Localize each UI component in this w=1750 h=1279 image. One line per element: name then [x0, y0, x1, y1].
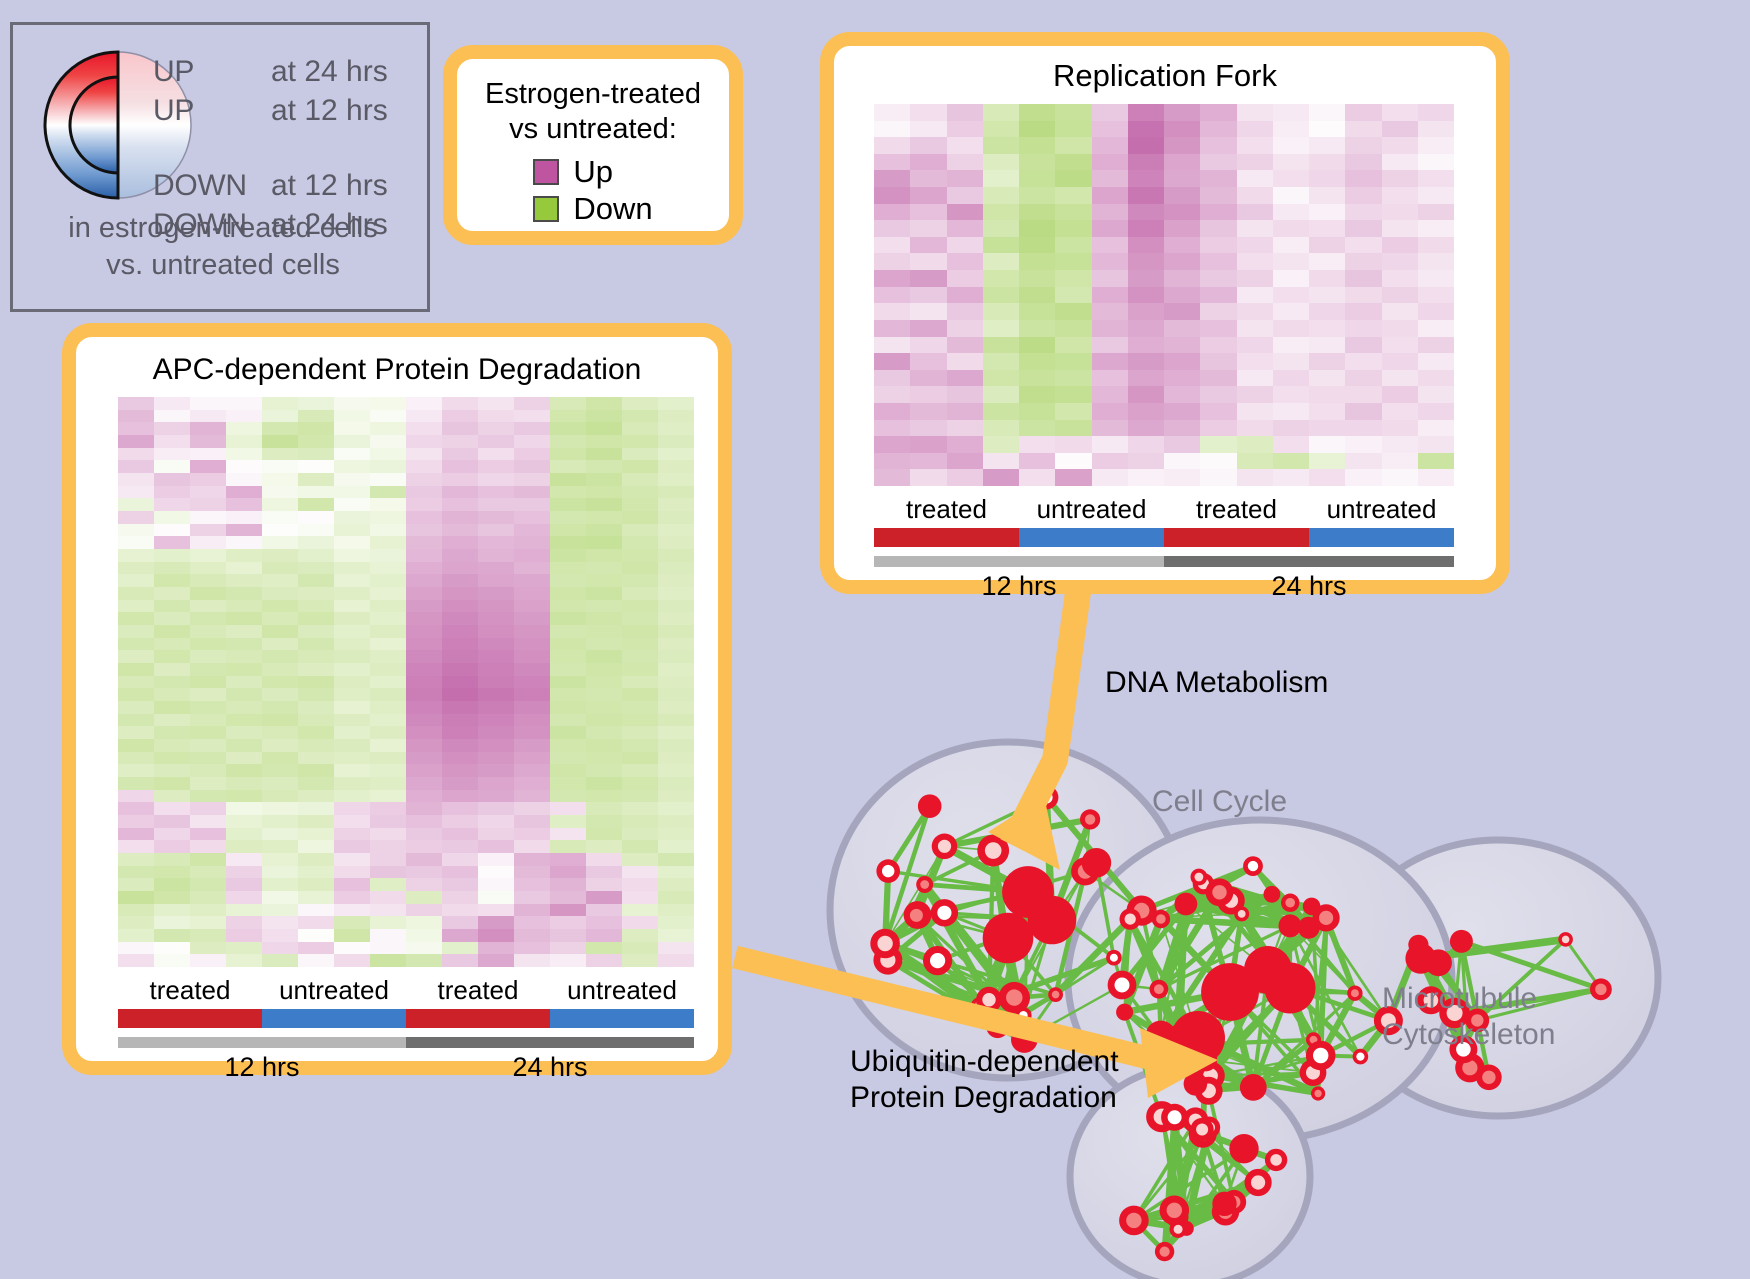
- heatmap-cell: [370, 448, 406, 461]
- heatmap-cell: [658, 840, 694, 853]
- heatmap-cell: [514, 422, 550, 435]
- heatmap-cell: [190, 878, 226, 891]
- heatmap-cell: [226, 612, 262, 625]
- network-node[interactable]: [1212, 1192, 1236, 1216]
- heatmap-cell: [1200, 137, 1236, 154]
- network-node[interactable]: [1450, 930, 1473, 953]
- heatmap-cell: [406, 562, 442, 575]
- heatmap-cell: [1092, 270, 1128, 287]
- heatmap-cell: [1418, 353, 1454, 370]
- heatmap-cell: [983, 220, 1019, 237]
- heatmap-cell: [1164, 237, 1200, 254]
- network-node[interactable]: [1240, 1074, 1267, 1101]
- heatmap-cell: [1309, 270, 1345, 287]
- heatmap-cell: [1382, 386, 1418, 403]
- heatmap-cell: [658, 587, 694, 600]
- network-node[interactable]: [1116, 1004, 1133, 1021]
- network-node[interactable]: [1264, 886, 1281, 903]
- heatmap-cell: [298, 435, 334, 448]
- heatmap-cell: [622, 460, 658, 473]
- heatmap-cell: [1345, 104, 1381, 121]
- heatmap-cell: [298, 688, 334, 701]
- heatmap-cell: [118, 549, 154, 562]
- heatmap-cell: [118, 777, 154, 790]
- heatmap-cell: [478, 676, 514, 689]
- heatmap-cell: [658, 574, 694, 587]
- heatmap-cell: [1273, 270, 1309, 287]
- heatmap-cell: [478, 625, 514, 638]
- heatmap-cell: [262, 422, 298, 435]
- heatmap-cell: [154, 726, 190, 739]
- heatmap-cell: [262, 435, 298, 448]
- heatmap-cell: [334, 486, 370, 499]
- heatmap-cell: [658, 891, 694, 904]
- heatmap-cell: [478, 840, 514, 853]
- heatmap-cell: [370, 473, 406, 486]
- heatmap-cell: [226, 676, 262, 689]
- heatmap-cell: [226, 638, 262, 651]
- heatmap-cell: [1273, 154, 1309, 171]
- heatmap-cell: [622, 840, 658, 853]
- heatmap-cell: [622, 625, 658, 638]
- heatmap-cell: [550, 422, 586, 435]
- heatmap-cell: [983, 469, 1019, 486]
- heatmap-cell: [406, 650, 442, 663]
- heatmap-cell: [406, 891, 442, 904]
- network-node[interactable]: [1082, 848, 1112, 878]
- heatmap-cell: [658, 726, 694, 739]
- heatmap-cell: [190, 625, 226, 638]
- heatmap-cell: [658, 524, 694, 537]
- heatmap-cell: [1273, 121, 1309, 138]
- heatmap-cell: [622, 790, 658, 803]
- heatmap-cell: [298, 701, 334, 714]
- heatmap-cell: [442, 891, 478, 904]
- heatmap-cell: [442, 954, 478, 967]
- heatmap-cell: [334, 752, 370, 765]
- heatmap-cell: [118, 587, 154, 600]
- heatmap-cell: [406, 524, 442, 537]
- heatmap-cell: [154, 536, 190, 549]
- heatmap-cell: [1128, 453, 1164, 470]
- heatmap-cell: [622, 752, 658, 765]
- heatmap-cell: [334, 815, 370, 828]
- heatmap-cell: [226, 486, 262, 499]
- heatmap-cell: [226, 498, 262, 511]
- heatmap-cell: [190, 891, 226, 904]
- heatmap-cell: [1382, 237, 1418, 254]
- heatmap-cell: [586, 587, 622, 600]
- heatmap-cell: [658, 815, 694, 828]
- heatmap-cell: [983, 170, 1019, 187]
- heatmap-cell: [622, 536, 658, 549]
- heatmap-cell: [1200, 386, 1236, 403]
- heatmap-cell: [190, 524, 226, 537]
- heatmap-cell: [118, 688, 154, 701]
- heatmap-cell: [334, 549, 370, 562]
- heatmap-cell: [550, 764, 586, 777]
- heatmap-cell: [262, 954, 298, 967]
- heatmap-cell: [118, 511, 154, 524]
- treated-bar-12hr: [118, 1009, 262, 1028]
- heatmap-cell: [154, 853, 190, 866]
- heatmap-cell: [947, 187, 983, 204]
- heatmap-cell: [874, 436, 910, 453]
- heatmap-cell: [262, 752, 298, 765]
- heatmap-cell: [406, 929, 442, 942]
- heatmap-cell: [514, 891, 550, 904]
- heatmap-cell: [1200, 237, 1236, 254]
- key-time: at 12 hrs: [271, 94, 388, 128]
- heatmap-cell: [550, 676, 586, 689]
- heatmap-cell: [298, 638, 334, 651]
- heatmap-cell: [406, 587, 442, 600]
- timepoint-bar-24hr: [1164, 556, 1454, 567]
- heatmap-cell: [1418, 453, 1454, 470]
- heatmap-cell: [1345, 320, 1381, 337]
- heatmap-cell: [1092, 469, 1128, 486]
- heatmap-cell: [1092, 453, 1128, 470]
- heatmap-cell: [1128, 253, 1164, 270]
- heatmap-cell: [1345, 353, 1381, 370]
- heatmap-cell: [1092, 220, 1128, 237]
- heatmap-cell: [226, 916, 262, 929]
- heatmap-cell: [874, 154, 910, 171]
- heatmap-cell: [1200, 121, 1236, 138]
- heatmap-cell: [1418, 420, 1454, 437]
- heatmap-cell: [406, 574, 442, 587]
- colour-key-box: UP at 24 hrs UP at 12 hrs DOWN at 12 hrs…: [10, 22, 430, 312]
- heatmap-cell: [1237, 237, 1273, 254]
- heatmap-cell: [983, 237, 1019, 254]
- heatmap-cell: [226, 473, 262, 486]
- heatmap-cell: [514, 777, 550, 790]
- heatmap-cell: [226, 460, 262, 473]
- heatmap-cell: [1200, 287, 1236, 304]
- heatmap-cell: [1092, 403, 1128, 420]
- heatmap-cell: [586, 916, 622, 929]
- heatmap-cell: [1237, 436, 1273, 453]
- heatmap-cell: [406, 777, 442, 790]
- heatmap-cell: [442, 574, 478, 587]
- network-node[interactable]: [1425, 949, 1452, 976]
- heatmap-cell: [983, 287, 1019, 304]
- heatmap-cell: [910, 353, 946, 370]
- heatmap-cell: [1128, 270, 1164, 287]
- heatmap-cell: [478, 688, 514, 701]
- heatmap-cell: [1055, 386, 1091, 403]
- heatmap-cell: [1237, 154, 1273, 171]
- heatmap-cell: [983, 320, 1019, 337]
- network-node[interactable]: [1229, 1134, 1258, 1163]
- heatmap-cell: [658, 397, 694, 410]
- heatmap-cell: [550, 853, 586, 866]
- heatmap-cell: [1309, 453, 1345, 470]
- heatmap-cell: [1092, 237, 1128, 254]
- heatmap-cell: [262, 638, 298, 651]
- heatmap-cell: [550, 536, 586, 549]
- network-node[interactable]: [1146, 1021, 1176, 1051]
- heatmap-cell: [226, 866, 262, 879]
- network-node-core: [1212, 885, 1226, 899]
- heatmap-cell: [1055, 220, 1091, 237]
- heatmap-cell: [622, 422, 658, 435]
- heatmap-cell: [983, 353, 1019, 370]
- heatmap-cell: [1418, 104, 1454, 121]
- network-node[interactable]: [918, 794, 942, 818]
- heatmap-cell: [190, 866, 226, 879]
- heatmap-cell: [478, 511, 514, 524]
- heatmap-cell: [586, 853, 622, 866]
- heatmap-cell: [1382, 220, 1418, 237]
- heatmap-cell: [1418, 187, 1454, 204]
- heatmap-cell: [154, 790, 190, 803]
- heatmap-cell: [406, 460, 442, 473]
- heatmap-cell: [406, 435, 442, 448]
- network-node[interactable]: [1028, 896, 1077, 945]
- heatmap-cell: [370, 701, 406, 714]
- heatmap-cell: [622, 498, 658, 511]
- heatmap-cell: [874, 403, 910, 420]
- heatmap-cell: [874, 420, 910, 437]
- heatmap-cell: [334, 473, 370, 486]
- heatmap-cell: [334, 600, 370, 613]
- heatmap-cell: [118, 764, 154, 777]
- network-node[interactable]: [1303, 898, 1321, 916]
- heatmap-cell: [406, 511, 442, 524]
- heatmap-cell: [947, 420, 983, 437]
- heatmap-cell: [658, 942, 694, 955]
- heatmap-cell: [370, 929, 406, 942]
- heatmap-cell: [658, 612, 694, 625]
- heatmap-cell: [514, 435, 550, 448]
- heatmap-cell: [550, 891, 586, 904]
- heatmap-cell: [478, 650, 514, 663]
- heatmap-cell: [1382, 303, 1418, 320]
- heatmap-cell: [298, 536, 334, 549]
- heatmap-cell: [586, 460, 622, 473]
- heatmap-cell: [1200, 420, 1236, 437]
- heatmap-cell: [298, 448, 334, 461]
- heatmap-cell: [1164, 253, 1200, 270]
- heatmap-cell: [1237, 121, 1273, 138]
- heatmap-cell: [1128, 403, 1164, 420]
- heatmap-cell: [983, 370, 1019, 387]
- label-cell-cycle: Cell Cycle: [1152, 784, 1287, 820]
- heatmap-cell: [910, 469, 946, 486]
- heatmap-cell: [1273, 104, 1309, 121]
- heatmap-cell: [1164, 420, 1200, 437]
- heatmap-cell: [1237, 303, 1273, 320]
- heatmap-cell: [262, 891, 298, 904]
- heatmap-cell: [334, 448, 370, 461]
- heatmap-cell: [514, 498, 550, 511]
- key-row-down-12: DOWN at 12 hrs: [153, 169, 428, 208]
- heatmap-cell: [658, 473, 694, 486]
- heatmap-cell: [514, 929, 550, 942]
- heatmap-cell: [550, 612, 586, 625]
- heatmap-cell: [190, 486, 226, 499]
- heatmap-cell: [1418, 403, 1454, 420]
- heatmap-cell: [298, 866, 334, 879]
- heatmap-cell: [1128, 237, 1164, 254]
- heatmap-cell: [1237, 420, 1273, 437]
- treatment-labels: treated untreated treated untreated: [874, 494, 1454, 525]
- heatmap-cell: [154, 638, 190, 651]
- heatmap-cell: [370, 676, 406, 689]
- treated-bar-24hr: [406, 1009, 550, 1028]
- heatmap-cell: [190, 498, 226, 511]
- heatmap-cell: [1200, 370, 1236, 387]
- heatmap-cell: [478, 587, 514, 600]
- heatmap-cell: [1345, 121, 1381, 138]
- network-node-core: [1314, 1090, 1321, 1097]
- heatmap-cell: [154, 460, 190, 473]
- heatmap-cell: [550, 701, 586, 714]
- heatmap-cell: [1382, 320, 1418, 337]
- heatmap-cell: [550, 562, 586, 575]
- heatmap-cell: [947, 303, 983, 320]
- network-node-core: [1196, 1124, 1208, 1136]
- heatmap-cell: [1418, 237, 1454, 254]
- heatmap-cell: [658, 486, 694, 499]
- heatmap-cell: [947, 170, 983, 187]
- heatmap-cell: [370, 752, 406, 765]
- heatmap-cell: [1273, 337, 1309, 354]
- treatment-label: treated: [874, 494, 1019, 525]
- heatmap-cell: [226, 853, 262, 866]
- heatmap-cell: [983, 386, 1019, 403]
- heatmap-cell: [910, 436, 946, 453]
- heatmap-cell: [406, 625, 442, 638]
- heatmap-cell: [947, 337, 983, 354]
- network-node[interactable]: [1265, 963, 1316, 1014]
- heatmap-cell: [262, 612, 298, 625]
- network-node-core: [1040, 791, 1052, 803]
- heatmap-cell: [514, 549, 550, 562]
- network-node[interactable]: [1279, 914, 1302, 937]
- heatmap-cell: [370, 828, 406, 841]
- heatmap-cell: [118, 802, 154, 815]
- heatmap-cell: [514, 752, 550, 765]
- heatmap-cell: [622, 866, 658, 879]
- heatmap-cell: [226, 739, 262, 752]
- heatmap-cell: [190, 954, 226, 967]
- heatmap-cell: [442, 802, 478, 815]
- heatmap-cell: [947, 253, 983, 270]
- heatmap-cell: [1273, 253, 1309, 270]
- heatmap-cell: [1273, 137, 1309, 154]
- treatment-label: untreated: [1019, 494, 1164, 525]
- label-microtubule-cytoskeleton: Microtubule Cytoskeleton: [1382, 981, 1555, 1053]
- treatment-label: treated: [1164, 494, 1309, 525]
- network-node[interactable]: [1175, 893, 1198, 916]
- heatmap-cell: [406, 663, 442, 676]
- heatmap-cell: [1237, 104, 1273, 121]
- heatmap-cell: [586, 929, 622, 942]
- network-node[interactable]: [1184, 1072, 1208, 1096]
- heatmap-cell: [478, 828, 514, 841]
- heatmap-cell: [983, 453, 1019, 470]
- heatmap-cell: [478, 764, 514, 777]
- heatmap-cell: [334, 397, 370, 410]
- heatmap-cell: [586, 625, 622, 638]
- heatmap-cell: [154, 954, 190, 967]
- heatmap-cell: [658, 676, 694, 689]
- network-node-core: [1115, 978, 1130, 993]
- heatmap-cell: [1200, 204, 1236, 221]
- heatmap-cell: [550, 752, 586, 765]
- heatmap-cell: [1309, 303, 1345, 320]
- legend-label-down: Down: [573, 191, 652, 227]
- heatmap-cell: [1382, 154, 1418, 171]
- network-node-core: [1313, 1048, 1328, 1063]
- heatmap-cell: [1382, 253, 1418, 270]
- heatmap-cell: [550, 625, 586, 638]
- heatmap-cell: [154, 473, 190, 486]
- heatmap-cell: [406, 549, 442, 562]
- heatmap-cell: [947, 353, 983, 370]
- heatmap-cell: [298, 790, 334, 803]
- heatmap-cell: [190, 511, 226, 524]
- heatmap-cell: [1309, 253, 1345, 270]
- heatmap-cell: [658, 929, 694, 942]
- heatmap-cell: [298, 739, 334, 752]
- heatmap-cell: [1237, 220, 1273, 237]
- heatmap-cell: [226, 790, 262, 803]
- heatmap-cell: [514, 448, 550, 461]
- heatmap-cell: [1200, 104, 1236, 121]
- heatmap-cell: [262, 650, 298, 663]
- heatmap-cell: [154, 511, 190, 524]
- heatmap-cell: [334, 435, 370, 448]
- heatmap-cell: [658, 916, 694, 929]
- heatmap-cell: [118, 815, 154, 828]
- network-node-core: [1174, 1225, 1183, 1234]
- heatmap-cell: [1418, 170, 1454, 187]
- heatmap-cell: [226, 815, 262, 828]
- heatmap-cell: [118, 701, 154, 714]
- label-line-1: Microtubule: [1382, 981, 1555, 1017]
- heatmap-cell: [658, 650, 694, 663]
- heatmap-cell: [1200, 170, 1236, 187]
- heatmap-cell: [1345, 287, 1381, 304]
- heatmap-cell: [190, 739, 226, 752]
- heatmap-cell: [1128, 320, 1164, 337]
- network-node[interactable]: [983, 913, 1034, 964]
- heatmap-cell: [118, 486, 154, 499]
- heatmap-cell: [910, 187, 946, 204]
- network-node[interactable]: [1194, 1049, 1217, 1072]
- heatmap-cell: [550, 397, 586, 410]
- network-node-core: [1595, 984, 1606, 995]
- treatment-label: treated: [118, 975, 262, 1006]
- heatmap-cell: [983, 270, 1019, 287]
- heatmap-cell: [1092, 320, 1128, 337]
- heatmap-cell: [442, 688, 478, 701]
- heatmap-cell: [334, 878, 370, 891]
- label-dna-metabolism: DNA Metabolism: [1105, 665, 1328, 701]
- heatmap-cell: [1092, 353, 1128, 370]
- heatmap-cell: [874, 170, 910, 187]
- gene-network-diagram: [790, 620, 1750, 1279]
- heatmap-cell: [1055, 320, 1091, 337]
- heatmap-cell: [262, 524, 298, 537]
- heatmap-cell: [586, 878, 622, 891]
- heatmap-cell: [1237, 386, 1273, 403]
- panel-title: APC-dependent Protein Degradation: [76, 353, 718, 387]
- heatmap-cell: [586, 536, 622, 549]
